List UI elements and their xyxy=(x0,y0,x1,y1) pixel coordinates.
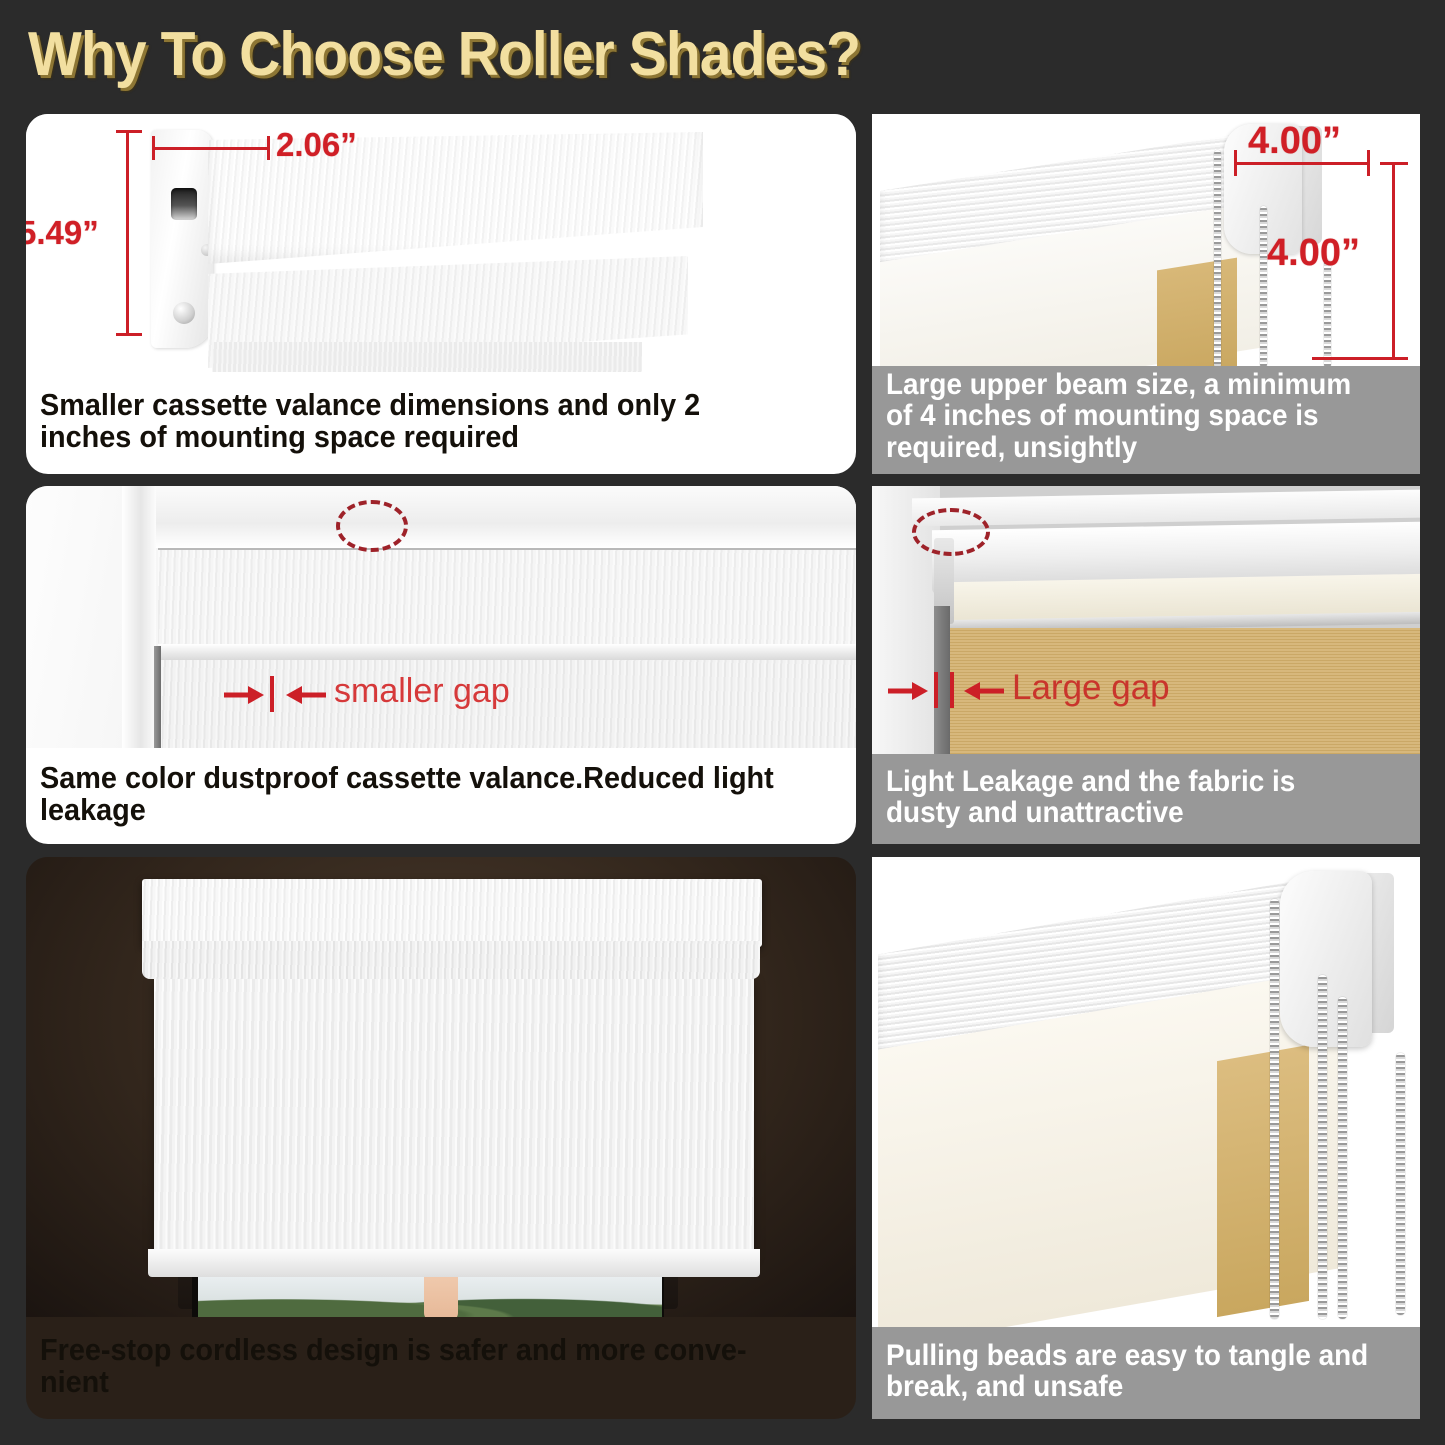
feature-panel-cordless-design: Free-stop cordless design is safer and m… xyxy=(26,857,856,1419)
large-gap-label: Large gap xyxy=(1012,668,1170,708)
gap-arrow-right-icon xyxy=(282,682,328,708)
roller-fabric-tan xyxy=(1157,258,1237,366)
cassette-valance-lip xyxy=(142,941,760,979)
width-dimension-line xyxy=(152,147,270,150)
cassette-valance xyxy=(142,879,762,947)
gap-marker-line xyxy=(270,676,274,712)
width-dimension-label: 2.06” xyxy=(276,126,357,164)
panel-6-caption-bar: Pulling beads are easy to tangle and bre… xyxy=(872,1327,1420,1419)
panel-3-caption-text: Same color dustproof cassette valance.Re… xyxy=(40,762,786,826)
panel-1-image: 2.06” 5.49” xyxy=(26,114,856,372)
panel-5-caption-text: Free-stop cordless design is safer and m… xyxy=(40,1334,786,1398)
panel-2-caption-text: Large upper beam size, a minimum of 4 in… xyxy=(886,369,1370,463)
gap-marker-line-right xyxy=(950,672,954,708)
panel-4-image: Large gap xyxy=(872,486,1420,754)
shade-side-gap xyxy=(154,646,161,748)
panel-5-caption-bar: Free-stop cordless design is safer and m… xyxy=(26,1317,856,1419)
beam-height-dimension-line xyxy=(1392,162,1395,360)
valance-fabric xyxy=(212,342,642,372)
gap-marker-line-left xyxy=(934,672,938,708)
bead-chain-right xyxy=(1396,1053,1405,1315)
beam-height-dimension-label: 4.00” xyxy=(1267,232,1360,275)
comparison-grid: 2.06” 5.49” Smaller cassette valance dim… xyxy=(0,0,1445,1445)
shade-bottom-rail xyxy=(148,1249,760,1277)
feature-panel-light-leakage: Large gap Light Leakage and the fabric i… xyxy=(872,486,1420,844)
gap-arrow-right-icon xyxy=(960,678,1006,704)
shade-middle-rail xyxy=(158,644,856,660)
panel-1-caption-bar: Smaller cassette valance dimensions and … xyxy=(26,372,856,474)
roller-shade-panel xyxy=(154,977,754,1255)
beam-width-tick-right xyxy=(1367,150,1370,176)
beam-width-dimension-label: 4.00” xyxy=(1248,120,1341,163)
width-dimension-tick-right xyxy=(267,136,270,160)
width-dimension-tick-left xyxy=(152,136,155,160)
bead-chain-left xyxy=(1214,150,1221,366)
panel-2-image: 4.00” 4.00” xyxy=(872,114,1420,366)
highlight-circle-icon xyxy=(336,500,408,552)
panel-6-caption-text: Pulling beads are easy to tangle and bre… xyxy=(886,1340,1370,1402)
panel-3-caption-bar: Same color dustproof cassette valance.Re… xyxy=(26,748,856,844)
panel-3-image: smaller gap xyxy=(26,486,856,748)
panel-5-image xyxy=(26,857,856,1317)
bead-chain-middle xyxy=(1260,206,1267,366)
window-frame-top xyxy=(122,486,856,548)
valance-slot xyxy=(171,188,197,220)
bead-chain-right xyxy=(1324,260,1331,366)
bead-chain-left xyxy=(1270,899,1279,1319)
beam-height-tick-top xyxy=(1380,162,1408,165)
feature-panel-large-beam: 4.00” 4.00” Large upper beam size, a min… xyxy=(872,114,1420,474)
window-frame-side xyxy=(122,486,156,748)
feature-panel-smaller-cassette: 2.06” 5.49” Smaller cassette valance dim… xyxy=(26,114,856,474)
bead-chain-middle xyxy=(1318,975,1327,1319)
beam-width-tick-left xyxy=(1234,150,1237,176)
panel-2-caption-bar: Large upper beam size, a minimum of 4 in… xyxy=(872,366,1420,474)
panel-4-caption-bar: Light Leakage and the fabric is dusty an… xyxy=(872,754,1420,844)
valance-screw-lower xyxy=(173,302,195,324)
feature-panel-pull-beads: Pulling beads are easy to tangle and bre… xyxy=(872,857,1420,1419)
panel-1-caption-text: Smaller cassette valance dimensions and … xyxy=(40,389,786,453)
shade-upper-section xyxy=(158,548,856,648)
height-dimension-line xyxy=(126,130,129,336)
valance-end-cap xyxy=(151,130,213,348)
feature-panel-dustproof-valance: smaller gap Same color dustproof cassett… xyxy=(26,486,856,844)
panel-6-image xyxy=(872,857,1420,1327)
gap-arrow-left-icon xyxy=(886,678,932,704)
smaller-gap-label: smaller gap xyxy=(334,672,510,711)
panel-4-caption-text: Light Leakage and the fabric is dusty an… xyxy=(886,766,1370,828)
height-dimension-tick-bottom xyxy=(116,333,142,336)
gap-arrow-left-icon xyxy=(222,682,268,708)
highlight-circle-icon xyxy=(912,508,990,556)
height-dimension-label: 5.49” xyxy=(26,214,99,252)
bead-chain-inner xyxy=(1338,997,1347,1319)
height-dimension-tick-top xyxy=(116,130,142,133)
roller-fabric-tan xyxy=(1217,1045,1309,1317)
beam-height-tick-bottom xyxy=(1312,357,1408,360)
